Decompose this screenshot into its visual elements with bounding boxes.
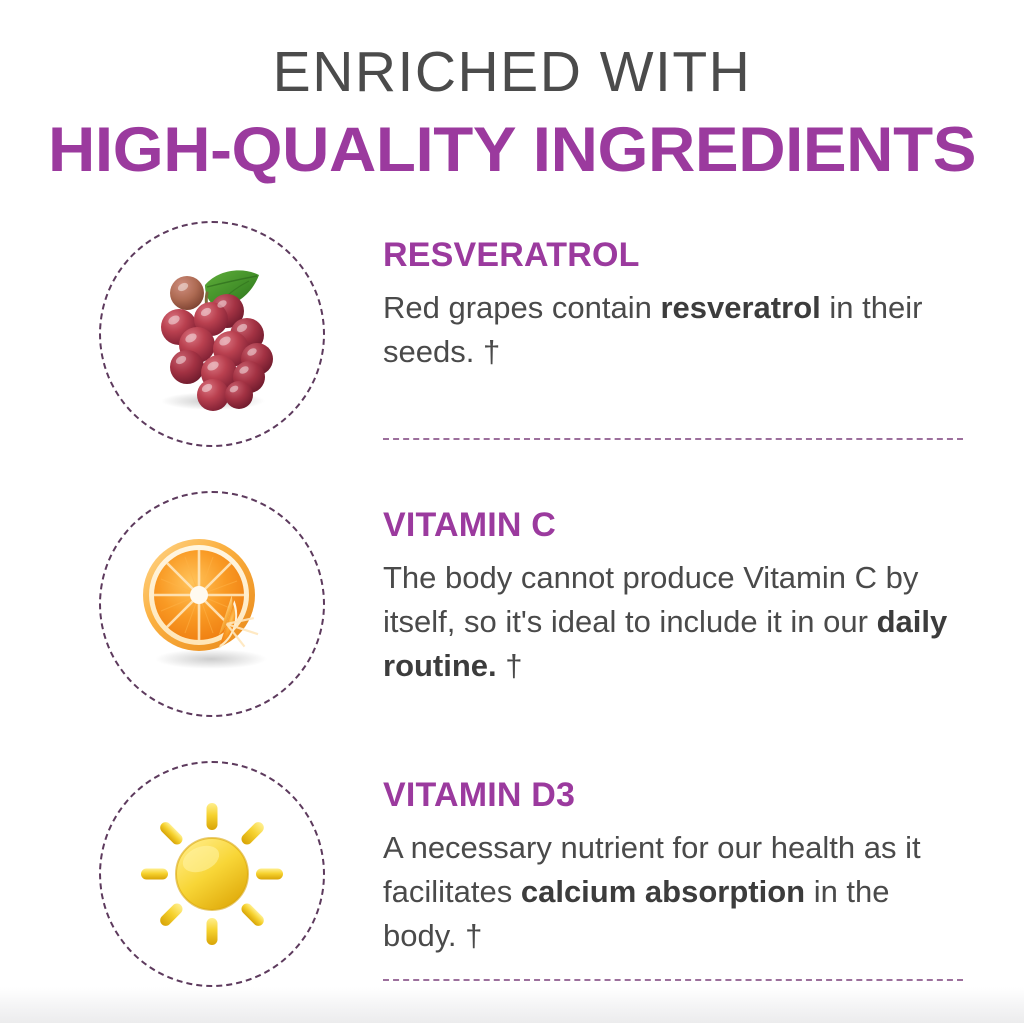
text-column: RESVERATROL Red grapes contain resveratr… [383, 208, 1024, 374]
ingredient-list: RESVERATROL Red grapes contain resveratr… [0, 208, 1024, 1018]
text-column: VITAMIN C The body cannot produce Vitami… [383, 478, 1024, 688]
icon-column [0, 748, 383, 1018]
ingredient-description: A necessary nutrient for our health as i… [383, 826, 963, 958]
headline-secondary: HIGH-QUALITY INGREDIENTS [0, 119, 1024, 182]
text-column: VITAMIN D3 A necessary nutrient for our … [383, 748, 1024, 958]
dashed-circle-frame [99, 221, 325, 447]
ingredient-title: VITAMIN C [383, 508, 963, 542]
ingredient-title: RESVERATROL [383, 238, 963, 272]
ingredient-row-resveratrol: RESVERATROL Red grapes contain resveratr… [0, 208, 1024, 478]
icon-column [0, 208, 383, 478]
red-grapes-icon [127, 249, 297, 419]
divider-after-resveratrol [383, 438, 963, 440]
ingredient-description: Red grapes contain resveratrol in their … [383, 286, 963, 374]
icon-column [0, 478, 383, 748]
ingredient-description: The body cannot produce Vitamin C by its… [383, 556, 963, 688]
headline-primary: ENRICHED WITH [0, 44, 1024, 101]
ingredient-row-vitamin-d3: VITAMIN D3 A necessary nutrient for our … [0, 748, 1024, 1018]
sun-icon [127, 789, 297, 959]
bottom-band [0, 987, 1024, 1023]
ingredient-row-vitamin-c: VITAMIN C The body cannot produce Vitami… [0, 478, 1024, 748]
ingredient-title: VITAMIN D3 [383, 778, 963, 812]
orange-slice-icon [127, 519, 297, 689]
header: ENRICHED WITH HIGH-QUALITY INGREDIENTS [0, 0, 1024, 182]
ingredients-infographic: ENRICHED WITH HIGH-QUALITY INGREDIENTS [0, 0, 1024, 1023]
dashed-circle-frame [99, 761, 325, 987]
dashed-circle-frame [99, 491, 325, 717]
